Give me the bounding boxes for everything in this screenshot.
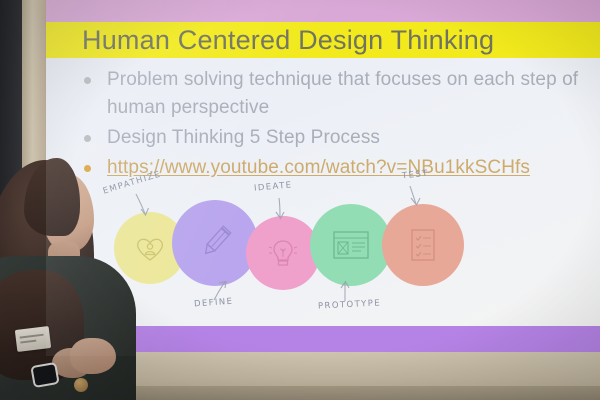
heart-person-icon xyxy=(133,231,167,265)
list-item: Design Thinking 5 Step Process xyxy=(78,124,598,152)
design-thinking-diagram: EMPATHIZE DEFINE xyxy=(106,172,536,312)
arrow-down-icon xyxy=(406,184,424,206)
presenter xyxy=(0,152,138,400)
wrist-watch xyxy=(30,362,59,388)
list-item: Problem solving technique that focuses o… xyxy=(78,66,598,122)
arrow-down-icon xyxy=(272,196,290,220)
diagram-step-prototype xyxy=(310,204,392,286)
checklist-icon xyxy=(407,227,439,263)
diagram-step-ideate xyxy=(246,216,320,290)
pencil-icon xyxy=(195,223,235,263)
presenter-hand-right xyxy=(70,338,116,374)
diagram-label-ideate: IDEATE xyxy=(254,180,293,193)
name-badge xyxy=(15,326,51,352)
diagram-step-define xyxy=(172,200,258,286)
lightbulb-icon xyxy=(266,236,300,270)
slide-top-band xyxy=(46,0,600,22)
bullet-text: Design Thinking 5 Step Process xyxy=(107,124,380,152)
diagram-label-test: TEST xyxy=(402,169,430,182)
slide-title: Human Centered Design Thinking xyxy=(82,22,494,58)
wireframe-icon xyxy=(331,228,371,262)
bullet-text: Problem solving technique that focuses o… xyxy=(107,66,598,122)
bullet-dot-icon xyxy=(84,77,91,84)
arrow-up-icon xyxy=(338,280,354,302)
presenter-button xyxy=(74,378,88,392)
slide-bullet-list: Problem solving technique that focuses o… xyxy=(78,66,598,184)
arrow-up-icon xyxy=(210,280,230,302)
diagram-step-test xyxy=(382,204,464,286)
photo-scene: Human Centered Design Thinking Problem s… xyxy=(0,0,600,400)
bullet-dot-icon xyxy=(84,135,91,142)
